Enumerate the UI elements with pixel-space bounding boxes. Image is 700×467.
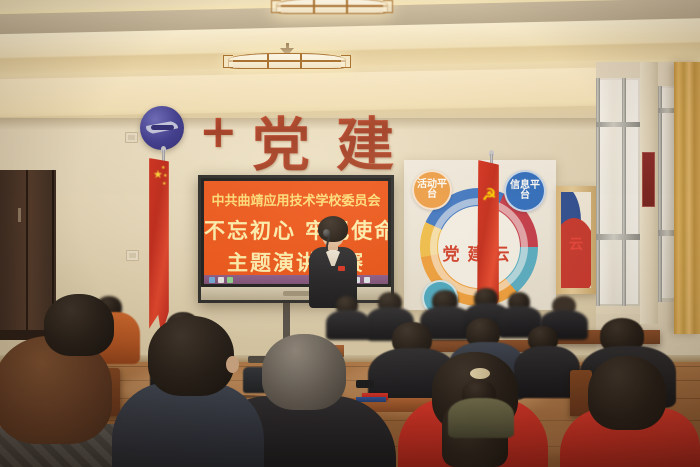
- phone-on-desk: [356, 380, 374, 388]
- national-flag: ★ ★ ★ ★: [149, 158, 169, 336]
- ear: [226, 356, 239, 373]
- screen-line-2: 不忘初心 牢记使命: [204, 215, 388, 245]
- window-frame-rail: [596, 122, 640, 127]
- framed-side-banner: 云: [556, 186, 596, 294]
- pillar-sign: [642, 152, 655, 207]
- banner-bubble-activity: 活动平台: [412, 170, 452, 210]
- window-frame-rail: [596, 234, 640, 240]
- pendant-lamp-icon: [276, 0, 388, 18]
- wall-outlet: [126, 250, 139, 261]
- window-mullion: [596, 78, 600, 308]
- meeting-hall-photo: + 党 建 党建云 活动平台 信息平台 云: [0, 0, 700, 467]
- framed-banner-label: 云: [561, 234, 591, 254]
- display-bezel: [201, 287, 391, 300]
- cabinet-handle: [18, 208, 21, 222]
- wall-sign-char-2: 建: [336, 98, 394, 182]
- audience-head: [44, 294, 114, 356]
- screen-taskbar[interactable]: [204, 275, 388, 284]
- projection-screen[interactable]: 中共曲靖应用技术学校委员会 不忘初心 牢记使命 主题演讲比赛 2017年: [198, 175, 394, 303]
- microphone-icon: [323, 229, 330, 237]
- window-sill: [596, 306, 642, 314]
- window-mullion: [622, 78, 626, 308]
- pendant-lamp-icon: [228, 43, 346, 77]
- hammer-sickle-icon: ☭: [482, 188, 496, 204]
- sheer-curtain: [596, 80, 638, 304]
- audience-head: [588, 356, 666, 430]
- olive-jacket-attendee: [448, 398, 514, 438]
- speaker-presenter: [307, 216, 359, 308]
- wall-sign-char-1: 党: [252, 98, 310, 182]
- audience-head: [262, 334, 346, 410]
- audience-head: [148, 316, 234, 396]
- screen-line-3: 主题演讲比赛: [204, 247, 388, 277]
- screen-line-1: 中共曲靖应用技术学校委员会: [204, 190, 388, 209]
- wall-sign-plus: +: [199, 104, 238, 158]
- hair-bow: [470, 368, 490, 379]
- party-badge: [338, 266, 345, 271]
- window-drape: [674, 62, 700, 334]
- wall-outlet: [125, 132, 138, 143]
- banner-bubble-information: 信息平台: [504, 170, 546, 212]
- e-logo-icon: [140, 106, 184, 150]
- window-mullion: [658, 86, 662, 302]
- audience-body: [326, 310, 370, 340]
- screen-content: 中共曲靖应用技术学校委员会 不忘初心 牢记使命 主题演讲比赛 2017年: [204, 181, 388, 284]
- window-wall: [596, 62, 700, 362]
